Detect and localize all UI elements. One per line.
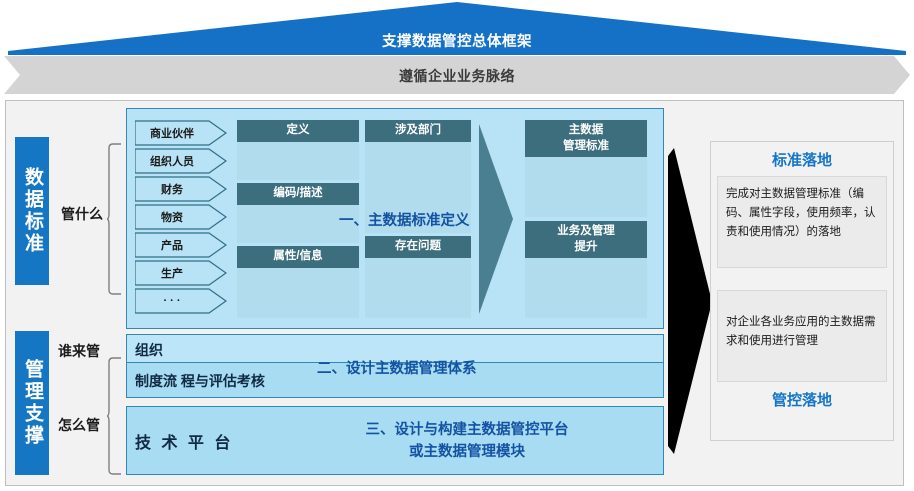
section-title-two: 二、设计主数据管理体系 [317,357,477,378]
outcome-title-bottom: 管控落地 [711,382,893,416]
domain-arrow-item[interactable]: 产品 [135,232,229,260]
card-attribute-info-header: 属性/信息 [237,246,359,268]
row-process-label: 制度流 程与评估考核 [135,371,265,391]
domain-arrow-label: 生产 [135,260,209,285]
section-title-three-line2: 或主数据管理模块 [409,444,525,460]
domain-arrow-label: 财务 [135,176,209,201]
row-organization-label: 组织 [135,340,163,360]
card-definition[interactable]: 定义 [237,120,359,180]
card-definition-header: 定义 [237,120,359,142]
domain-arrow-item[interactable]: 财务 [135,176,229,204]
outcome-title-top: 标准落地 [711,142,893,176]
card-std-line2: 管理标准 [563,140,609,152]
card-biz-line2: 提升 [575,241,598,253]
card-std-line1: 主数据 [569,124,604,136]
question-who: 谁来管 [58,341,100,361]
card-issues[interactable]: 存在问题 [365,236,471,318]
outcome-text-bottom: 对企业各业务应用的主数据需求和使用进行管理 [717,290,887,382]
outcome-text-top: 完成对主数据管理标准（编码、属性字段，使用频率，认责和使用情况）的落地 [717,176,887,268]
domain-arrow-item[interactable]: 组织人员 [135,148,229,176]
card-business-improvement[interactable]: 业务及管理 提升 [525,221,647,318]
card-departments-header: 涉及部门 [365,120,471,142]
main-frame: 数据标准 管理支撑 管什么 谁来管 怎么管 商业伙伴 组织人员 财务 [5,100,904,486]
row-process[interactable]: 制度流 程与评估考核 二、设计主数据管理体系 [126,363,664,398]
roof-banner: 支撑数据管控总体框架 [8,2,906,55]
question-what: 管什么 [61,204,103,224]
outcome-panel: 标准落地 完成对主数据管理标准（编码、属性字段，使用频率，认责和使用情况）的落地… [710,141,894,441]
section-title-three: 三、设计与构建主数据管控平台 或主数据管理模块 [287,419,647,464]
card-master-data-standard[interactable]: 主数据 管理标准 [525,120,647,217]
row-technology-platform-label: 技 术 平 台 [135,429,233,453]
outcome-chevron-icon [666,146,716,456]
domain-arrow-label: 产品 [135,232,209,257]
roof-title: 支撑数据管控总体框架 [8,30,906,51]
card-biz-line1: 业务及管理 [557,225,615,237]
domain-arrow-item[interactable]: 物资 [135,204,229,232]
domain-arrow-list: 商业伙伴 组织人员 财务 物资 产品 生产 [135,120,229,318]
domain-arrow-label: 物资 [135,204,209,229]
domain-arrow-label: 组织人员 [135,148,209,173]
domain-arrow-item[interactable]: · · · [135,288,229,316]
question-how: 怎么管 [58,415,100,435]
band-title: 遵循企业业务脉络 [4,66,910,86]
card-code-description-header: 编码/描述 [237,183,359,205]
sidebar-label-management-support: 管理支撑 [15,331,49,475]
row-technology-platform[interactable]: 技 术 平 台 三、设计与构建主数据管控平台 或主数据管理模块 [126,406,664,475]
domain-arrow-item[interactable]: 商业伙伴 [135,120,229,148]
section-title-one: 一、主数据标准定义 [339,209,489,230]
domain-arrow-item[interactable]: 生产 [135,260,229,288]
business-band: 遵循企业业务脉络 [4,56,910,94]
section-title-three-line1: 三、设计与构建主数据管控平台 [366,422,569,438]
brace-how [107,357,123,475]
card-attribute-info[interactable]: 属性/信息 [237,246,359,318]
master-data-definition-panel: 商业伙伴 组织人员 财务 物资 产品 生产 [126,108,664,329]
brace-what [107,143,123,295]
card-issues-header: 存在问题 [365,236,471,258]
domain-arrow-label: · · · [135,288,209,313]
domain-arrow-label: 商业伙伴 [135,120,209,145]
card-business-improvement-header: 业务及管理 提升 [525,221,647,258]
card-master-data-standard-header: 主数据 管理标准 [525,120,647,157]
sidebar-label-data-standard: 数据标准 [15,137,49,285]
